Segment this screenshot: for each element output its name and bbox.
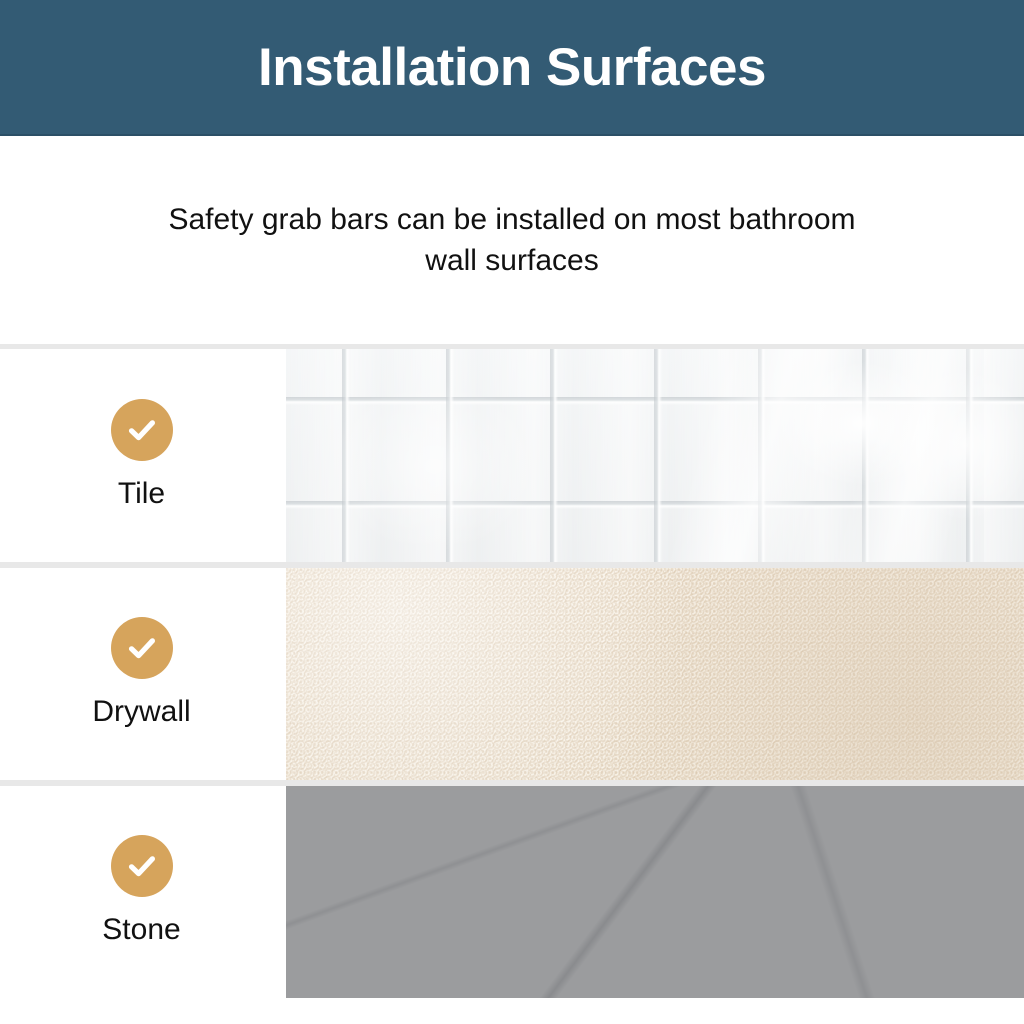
- installation-surfaces-page: Installation Surfaces Safety grab bars c…: [0, 0, 1024, 1024]
- surface-label-cell-tile: Tile: [0, 349, 283, 562]
- check-circle-icon: [111, 399, 173, 461]
- check-circle-icon: [111, 835, 173, 897]
- tile-texture-image: [286, 349, 1024, 562]
- surface-label-cell-drywall: Drywall: [0, 568, 283, 780]
- page-title: Installation Surfaces: [258, 41, 766, 94]
- surface-texture-stone: [283, 786, 1024, 998]
- surface-label-stone: Stone: [102, 915, 180, 945]
- surface-texture-drywall: [283, 568, 1024, 780]
- surface-label-tile: Tile: [118, 479, 165, 509]
- surface-row-tile[interactable]: Tile: [0, 344, 1024, 562]
- surface-label-drywall: Drywall: [92, 697, 190, 727]
- surface-row-drywall[interactable]: Drywall: [0, 562, 1024, 780]
- surface-texture-tile: [283, 349, 1024, 562]
- stone-texture-image: [286, 786, 1024, 998]
- check-circle-icon: [111, 617, 173, 679]
- page-header: Installation Surfaces: [0, 0, 1024, 136]
- surface-list: Tile Drywall: [0, 344, 1024, 1024]
- drywall-texture-image: [286, 568, 1024, 780]
- surface-label-cell-stone: Stone: [0, 786, 283, 998]
- subtitle-section: Safety grab bars can be installed on mos…: [0, 138, 1024, 344]
- surface-row-stone[interactable]: Stone: [0, 780, 1024, 998]
- subtitle-text: Safety grab bars can be installed on mos…: [142, 200, 882, 282]
